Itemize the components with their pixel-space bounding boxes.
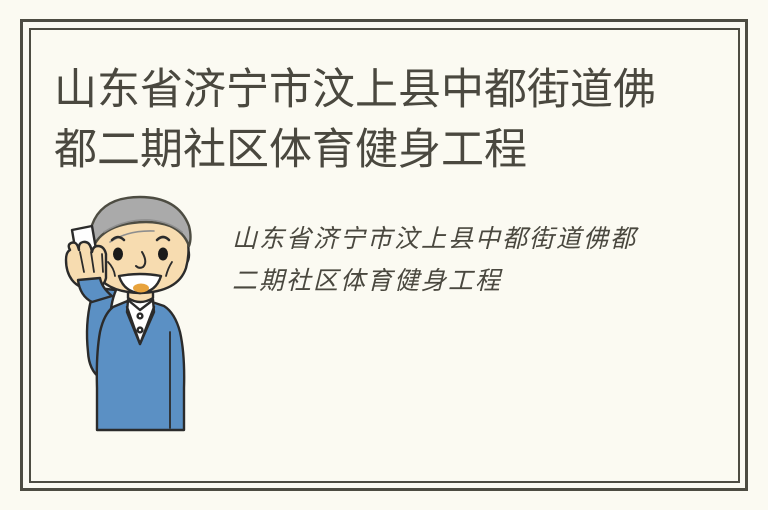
illustration-elderly-man-on-phone: [58, 192, 218, 442]
content-area: 山东省济宁市汶上县中都街道佛都二期社区体育健身工程: [0, 0, 768, 510]
illustration-caption: 山东省济宁市汶上县中都街道佛都二期社区体育健身工程: [232, 218, 652, 302]
page-root: 山东省济宁市汶上县中都街道佛都二期社区体育健身工程: [0, 0, 768, 510]
page-title: 山东省济宁市汶上县中都街道佛都二期社区体育健身工程: [54, 60, 674, 180]
